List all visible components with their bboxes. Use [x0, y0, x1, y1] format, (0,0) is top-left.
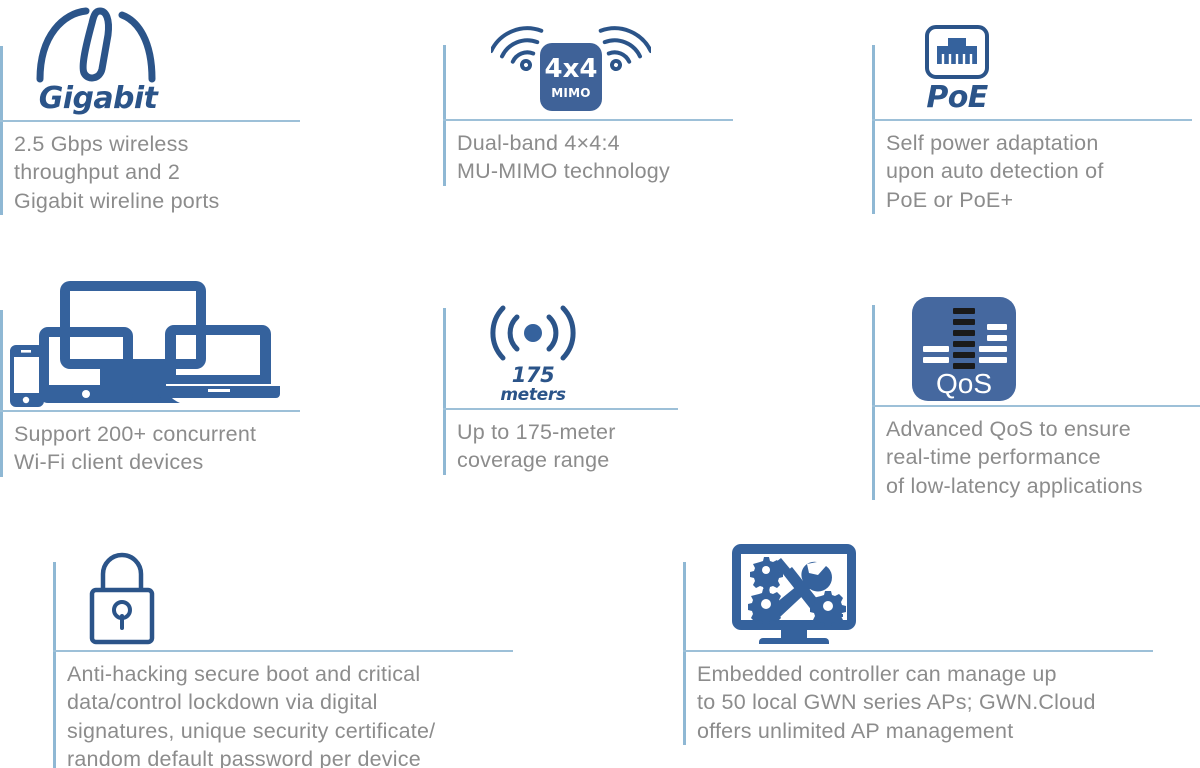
card-horizontal-rule	[443, 119, 733, 121]
feature-caption-mimo: Dual-band 4×4:4 MU-MIMO technology	[443, 119, 733, 186]
feature-card-qos: QoS Advanced QoS to ensure real-time per…	[872, 305, 1200, 500]
gigabit-wordmark: Gigabit	[39, 81, 158, 116]
gigabit-antenna-icon: Gigabit	[30, 5, 162, 116]
feature-card-security: Anti-hacking secure boot and critical da…	[53, 562, 513, 768]
card-icon-zone: 4x4 MIMO	[443, 45, 733, 119]
card-icon-zone	[683, 562, 1153, 650]
mimo-badge-primary: 4x4	[545, 56, 598, 82]
signal-range-icon: 175 meters	[485, 303, 581, 404]
card-horizontal-rule	[872, 405, 1200, 407]
range-distance-unit: meters	[500, 387, 565, 404]
feature-card-poe: PoE Self power adaptation upon auto dete…	[872, 45, 1192, 214]
range-distance-value: 175	[512, 365, 555, 386]
card-horizontal-rule	[0, 410, 300, 412]
feature-card-devices: Support 200+ concurrent Wi-Fi client dev…	[0, 310, 300, 477]
card-horizontal-rule	[0, 120, 300, 122]
feature-caption-devices: Support 200+ concurrent Wi-Fi client dev…	[0, 410, 300, 477]
poe-rj45-icon: PoE	[924, 24, 990, 115]
feature-card-range: 175 meters Up to 175-meter coverage rang…	[443, 308, 678, 475]
mimo-badge-secondary: MIMO	[551, 87, 591, 99]
feature-caption-embedded: Embedded controller can manage up to 50 …	[683, 650, 1153, 745]
card-icon-zone	[53, 562, 513, 650]
feature-card-gigabit: Gigabit 2.5 Gbps wireless throughput and…	[0, 46, 300, 215]
qos-badge-label: QoS	[912, 370, 1016, 398]
feature-caption-qos: Advanced QoS to ensure real-time perform…	[872, 405, 1200, 500]
multi-device-icon	[8, 273, 284, 408]
feature-caption-gigabit: 2.5 Gbps wireless throughput and 2 Gigab…	[0, 120, 300, 215]
mimo-wifi-badge-icon: 4x4 MIMO	[491, 11, 651, 115]
feature-infographic: Gigabit 2.5 Gbps wireless throughput and…	[0, 0, 1200, 768]
feature-caption-security: Anti-hacking secure boot and critical da…	[53, 650, 513, 768]
padlock-icon	[83, 546, 161, 646]
feature-card-embedded: Embedded controller can manage up to 50 …	[683, 562, 1153, 745]
card-icon-zone	[0, 310, 300, 410]
card-icon-zone: QoS	[872, 305, 1200, 405]
feature-card-mimo: 4x4 MIMO Dual-band 4×4:4 MU-MIMO technol…	[443, 45, 733, 186]
card-horizontal-rule	[872, 119, 1192, 121]
card-icon-zone: PoE	[872, 45, 1192, 119]
qos-equalizer-icon: QoS	[912, 297, 1016, 401]
card-horizontal-rule	[53, 650, 513, 652]
card-icon-zone: Gigabit	[0, 46, 300, 120]
feature-caption-range: Up to 175-meter coverage range	[443, 408, 678, 475]
qos-badge: QoS	[912, 297, 1016, 401]
monitor-tools-icon	[731, 542, 857, 646]
feature-caption-poe: Self power adaptation upon auto detectio…	[872, 119, 1192, 214]
poe-wordmark: PoE	[926, 80, 987, 115]
card-horizontal-rule	[683, 650, 1153, 652]
card-icon-zone: 175 meters	[443, 308, 678, 408]
mimo-badge: 4x4 MIMO	[540, 43, 602, 111]
card-horizontal-rule	[443, 408, 678, 410]
